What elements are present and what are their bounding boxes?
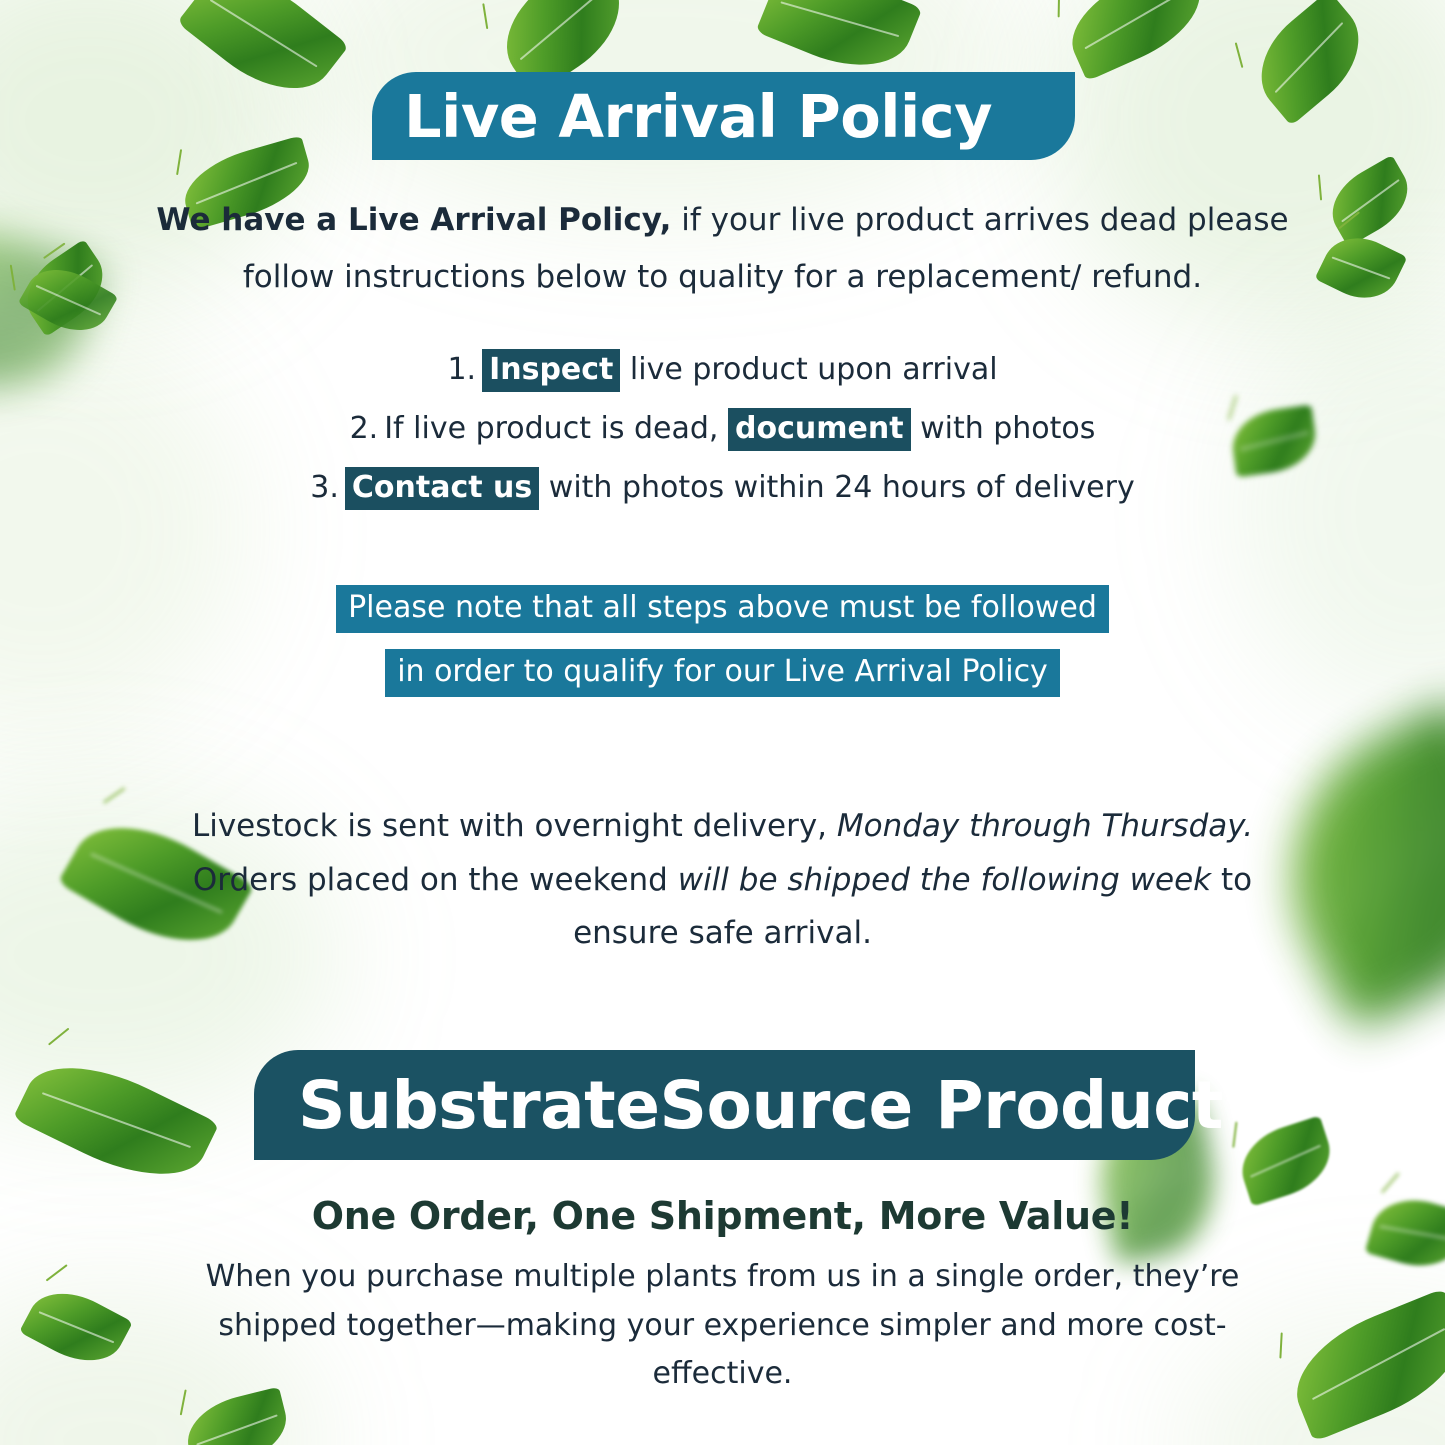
livestock-italic-days: Monday through Thursday. (837, 808, 1253, 844)
livestock-text-1: Livestock is sent with overnight deliver… (192, 808, 837, 844)
leaf-stem (43, 242, 65, 259)
leaf-icon (0, 201, 104, 420)
leaf-icon (1315, 225, 1408, 311)
leaf-icon (18, 255, 119, 345)
list-item: 1.Inspect live product upon arrival (150, 352, 1295, 387)
leaf-icon (1232, 1115, 1340, 1206)
policy-note-block: Please note that all steps above must be… (150, 585, 1295, 713)
leaf-stem (1232, 1122, 1237, 1148)
value-heading: One Order, One Shipment, More Value! (150, 1194, 1295, 1238)
leaf-icon (1279, 1288, 1445, 1442)
step-highlight-inspect: Inspect (482, 349, 620, 392)
step-pre-text: If live product is dead, (384, 411, 728, 446)
live-arrival-policy-banner: Live Arrival Policy (372, 72, 1075, 160)
step-post-text: live product upon arrival (620, 352, 997, 387)
livestock-italic-weekend: will be shipped the following week (678, 862, 1211, 898)
leaf-stem (10, 265, 16, 291)
leaf-stem (482, 3, 488, 29)
step-highlight-contact-us[interactable]: Contact us (345, 467, 539, 510)
intro-bold-text: We have a Live Arrival Policy, (156, 202, 671, 238)
step-post-text: with photos within 24 hours of delivery (539, 470, 1134, 505)
leaf-stem (1381, 1172, 1400, 1193)
live-arrival-policy-title: Live Arrival Policy (404, 82, 992, 151)
leaf-stem (1235, 42, 1244, 68)
list-item: 3.Contact us with photos within 24 hours… (150, 470, 1295, 505)
step-number: 1. (447, 352, 476, 387)
leaf-icon (1057, 0, 1215, 81)
note-line-1: Please note that all steps above must be… (336, 585, 1109, 633)
leaf-stem (48, 1028, 69, 1046)
leaf-icon (13, 1041, 220, 1201)
leaf-stem (1058, 0, 1060, 17)
leaf-icon (1319, 155, 1421, 247)
step-post-text: with photos (911, 411, 1096, 446)
leaf-stem (103, 787, 125, 804)
leaf-icon (1240, 0, 1380, 126)
substratesource-product-banner: SubstrateSource Product (254, 1050, 1195, 1160)
leaf-icon (13, 239, 118, 337)
leaf-stem (1318, 174, 1322, 200)
list-item: 2.If live product is dead, document with… (150, 411, 1295, 446)
leaf-icon (19, 1277, 133, 1377)
note-line-2: in order to qualify for our Live Arrival… (385, 649, 1060, 697)
policy-steps-list: 1.Inspect live product upon arrival 2.If… (150, 352, 1295, 529)
intro-paragraph: We have a Live Arrival Policy, if your l… (150, 192, 1295, 307)
value-paragraph: When you purchase multiple plants from u… (150, 1253, 1295, 1399)
leaf-stem (46, 1264, 68, 1281)
step-number: 3. (310, 470, 339, 505)
leaf-icon (1365, 1189, 1445, 1277)
livestock-shipping-paragraph: Livestock is sent with overnight deliver… (150, 800, 1295, 961)
leaf-icon (177, 0, 349, 115)
policy-infographic: Live Arrival Policy We have a Live Arriv… (0, 0, 1445, 1445)
leaf-stem (1339, 211, 1360, 229)
step-highlight-document: document (728, 408, 911, 451)
step-number: 2. (350, 411, 379, 446)
substratesource-product-title: SubstrateSource Product (298, 1067, 1223, 1144)
leaf-stem (176, 149, 182, 175)
